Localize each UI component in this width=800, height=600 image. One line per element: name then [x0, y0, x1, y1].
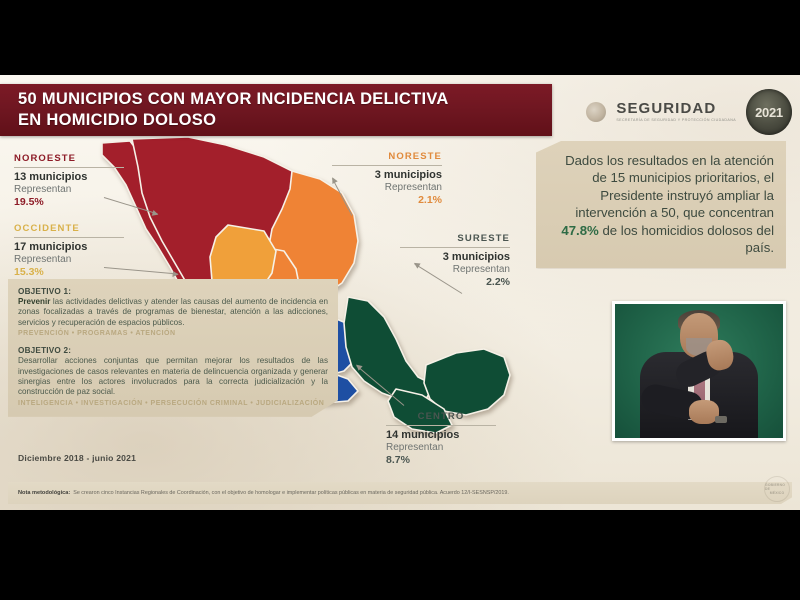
callout-centro-percent: 8.7%	[386, 454, 496, 467]
callout-noroeste-percent: 19.5%	[14, 196, 124, 209]
summary-panel: Dados los resultados en la atención de 1…	[536, 141, 786, 268]
note-label: Nota metodológica:	[18, 490, 70, 496]
callout-sureste-percent: 2.2%	[400, 276, 510, 289]
summary-text: Dados los resultados en la atención de 1…	[548, 152, 774, 256]
callout-centro: CENTRO 14 municipios Representan 8.7%	[386, 411, 496, 467]
interpreter-scene	[615, 304, 783, 438]
corner-logo-line-2: MÉXICO	[770, 491, 785, 495]
callout-noreste-percent: 2.1%	[332, 194, 442, 207]
objective-1-lead: Prevenir	[18, 297, 50, 306]
brand-lockup: SEGURIDAD SECRETARÍA DE SEGURIDAD Y PROT…	[586, 89, 792, 135]
callout-noroeste-rule	[14, 167, 124, 168]
slide-title-line-2: EN HOMICIDIO DOLOSO	[18, 110, 538, 131]
objective-1-text: las actividades delictivas y atender las…	[18, 297, 328, 327]
callout-occidente-municipios: 17 municipios	[14, 241, 124, 254]
callout-sureste-representan: Representan	[400, 264, 510, 276]
objective-1-tags: PREVENCIÓN • PROGRAMAS • ATENCIÓN	[18, 330, 328, 337]
map-region-sureste	[344, 297, 434, 401]
gobierno-de-mexico-logo: GOBIERNO DE MÉXICO	[764, 476, 790, 502]
callout-occidente-percent: 15.3%	[14, 266, 124, 279]
objective-1: OBJETIVO 1: Prevenir las actividades del…	[18, 287, 328, 337]
methodological-note: Nota metodológica: Se crearon cinco Inst…	[8, 482, 792, 504]
period-label: Diciembre 2018 - junio 2021	[18, 453, 136, 463]
interpreter-watch	[715, 416, 727, 423]
brand-name: SEGURIDAD	[616, 101, 736, 116]
callout-occidente-region: OCCIDENTE	[14, 223, 124, 234]
corner-logo-line-1: GOBIERNO DE	[765, 483, 789, 491]
objective-2-text: acciones conjuntas que permitan mejorar …	[18, 356, 328, 396]
seal-year: 2021	[755, 105, 783, 120]
objective-2-lead: Desarrollar	[18, 356, 58, 365]
summary-text-part2: de los homicidios dolosos del país.	[599, 223, 774, 255]
callout-occidente: OCCIDENTE 17 municipios Representan 15.3…	[14, 223, 124, 279]
callout-centro-rule	[386, 425, 496, 426]
callout-sureste-municipios: 3 municipios	[400, 251, 510, 264]
objective-1-heading: OBJETIVO 1:	[18, 287, 328, 296]
objective-1-body: Prevenir las actividades delictivas y at…	[18, 297, 328, 328]
brand-subtitle: SECRETARÍA DE SEGURIDAD Y PROTECCIÓN CIU…	[616, 119, 736, 123]
brand-text: SEGURIDAD SECRETARÍA DE SEGURIDAD Y PROT…	[616, 101, 736, 123]
slide-title-bar: 50 MUNICIPIOS CON MAYOR INCIDENCIA DELIC…	[0, 84, 552, 136]
sign-language-interpreter-video	[612, 301, 786, 441]
objective-2-heading: OBJETIVO 2:	[18, 346, 328, 355]
callout-sureste-rule	[400, 247, 510, 248]
mexico-eagle-icon	[586, 102, 606, 122]
objective-2: OBJETIVO 2: Desarrollar acciones conjunt…	[18, 346, 328, 407]
callout-sureste-region: SURESTE	[400, 233, 510, 244]
summary-highlight-percent: 47.8%	[561, 223, 598, 238]
objective-2-tags: INTELIGENCIA • INVESTIGACIÓN • PERSECUCI…	[18, 400, 328, 407]
callout-noroeste-representan: Representan	[14, 184, 124, 196]
government-seal-icon: 2021	[746, 89, 792, 135]
objectives-panel: OBJETIVO 1: Prevenir las actividades del…	[8, 279, 338, 417]
callout-noroeste: NOROESTE 13 municipios Representan 19.5%	[14, 153, 124, 209]
objective-2-body: Desarrollar acciones conjuntas que permi…	[18, 356, 328, 398]
slide-title-line-1: 50 MUNICIPIOS CON MAYOR INCIDENCIA DELIC…	[18, 89, 538, 110]
callout-sureste: SURESTE 3 municipios Representan 2.2%	[400, 233, 510, 289]
callout-occidente-rule	[14, 237, 124, 238]
callout-noreste-representan: Representan	[332, 182, 442, 194]
callout-centro-region: CENTRO	[386, 411, 496, 422]
callout-noreste: NORESTE 3 municipios Representan 2.1%	[332, 151, 442, 207]
callout-occidente-representan: Representan	[14, 254, 124, 266]
callout-noreste-municipios: 3 municipios	[332, 169, 442, 182]
callout-centro-representan: Representan	[386, 442, 496, 454]
video-player: 50 MUNICIPIOS CON MAYOR INCIDENCIA DELIC…	[0, 0, 800, 600]
summary-text-part1: Dados los resultados en la atención de 1…	[565, 153, 774, 220]
callout-noreste-region: NORESTE	[332, 151, 442, 162]
callout-noroeste-municipios: 13 municipios	[14, 171, 124, 184]
callout-noreste-rule	[332, 165, 442, 166]
callout-noroeste-region: NOROESTE	[14, 153, 124, 164]
note-text: Se crearon cinco Instancias Regionales d…	[73, 490, 509, 496]
presentation-slide: 50 MUNICIPIOS CON MAYOR INCIDENCIA DELIC…	[0, 75, 800, 510]
callout-centro-municipios: 14 municipios	[386, 429, 496, 442]
